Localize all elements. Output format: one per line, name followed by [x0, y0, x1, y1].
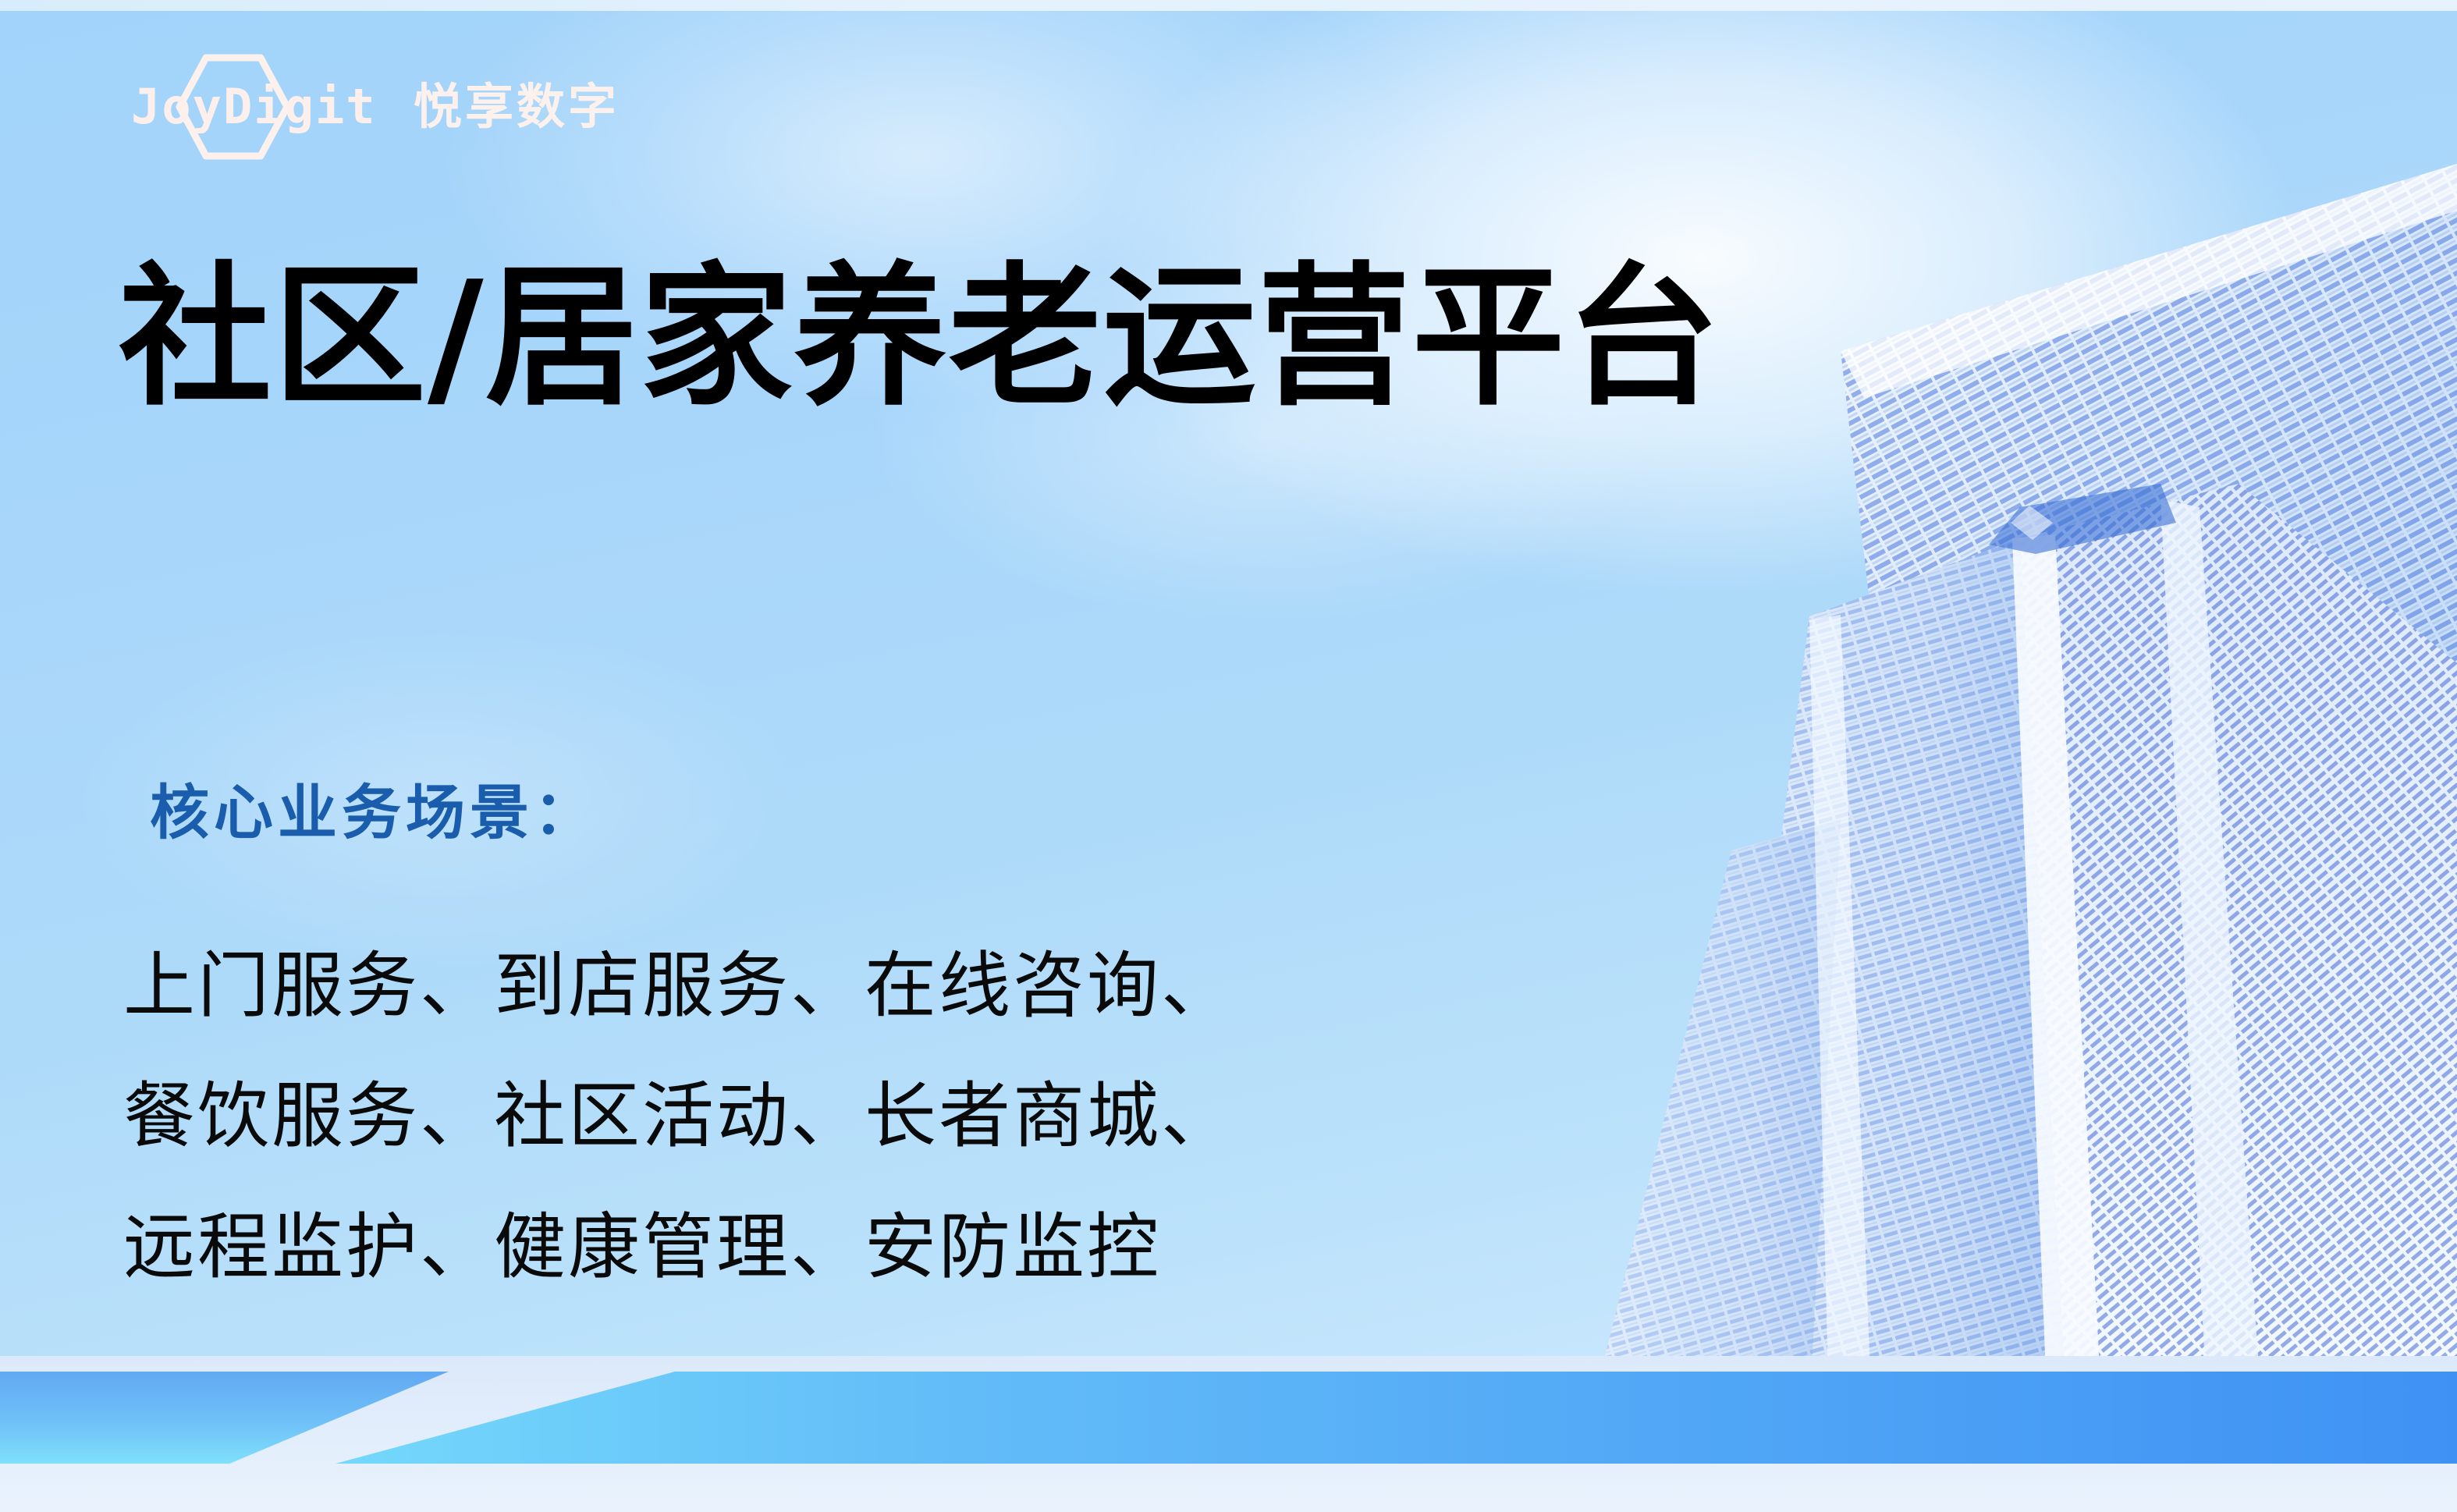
footer-bar-left-segment [0, 1372, 449, 1464]
footer-accent-bar [0, 1372, 2457, 1464]
brand-logo: JoyDigit 悦享数字 [131, 64, 620, 150]
logo-wordmark: JoyDigit [131, 83, 377, 131]
scenario-line: 餐饮服务、社区活动、长者商城、 [123, 1051, 1235, 1181]
scenario-line: 上门服务、到店服务、在线咨询、 [123, 921, 1235, 1051]
core-scenarios-heading: 核心业务场景： [150, 780, 598, 846]
logo-wordmark-cn: 悦享数字 [414, 83, 620, 131]
logo-mark: JoyDigit [131, 64, 396, 150]
footer-bar-right-segment [336, 1372, 2457, 1464]
page-title: 社区/居家养老运营平台 [119, 256, 1721, 421]
core-scenarios-list: 上门服务、到店服务、在线咨询、 餐饮服务、社区活动、长者商城、 远程监护、健康管… [123, 921, 1235, 1312]
slide-root: JoyDigit 悦享数字 社区/居家养老运营平台 核心业务场景： 上门服务、到… [0, 0, 2457, 1512]
top-edge-band [0, 0, 2457, 11]
scenario-line: 远程监护、健康管理、安防监控 [123, 1182, 1235, 1312]
